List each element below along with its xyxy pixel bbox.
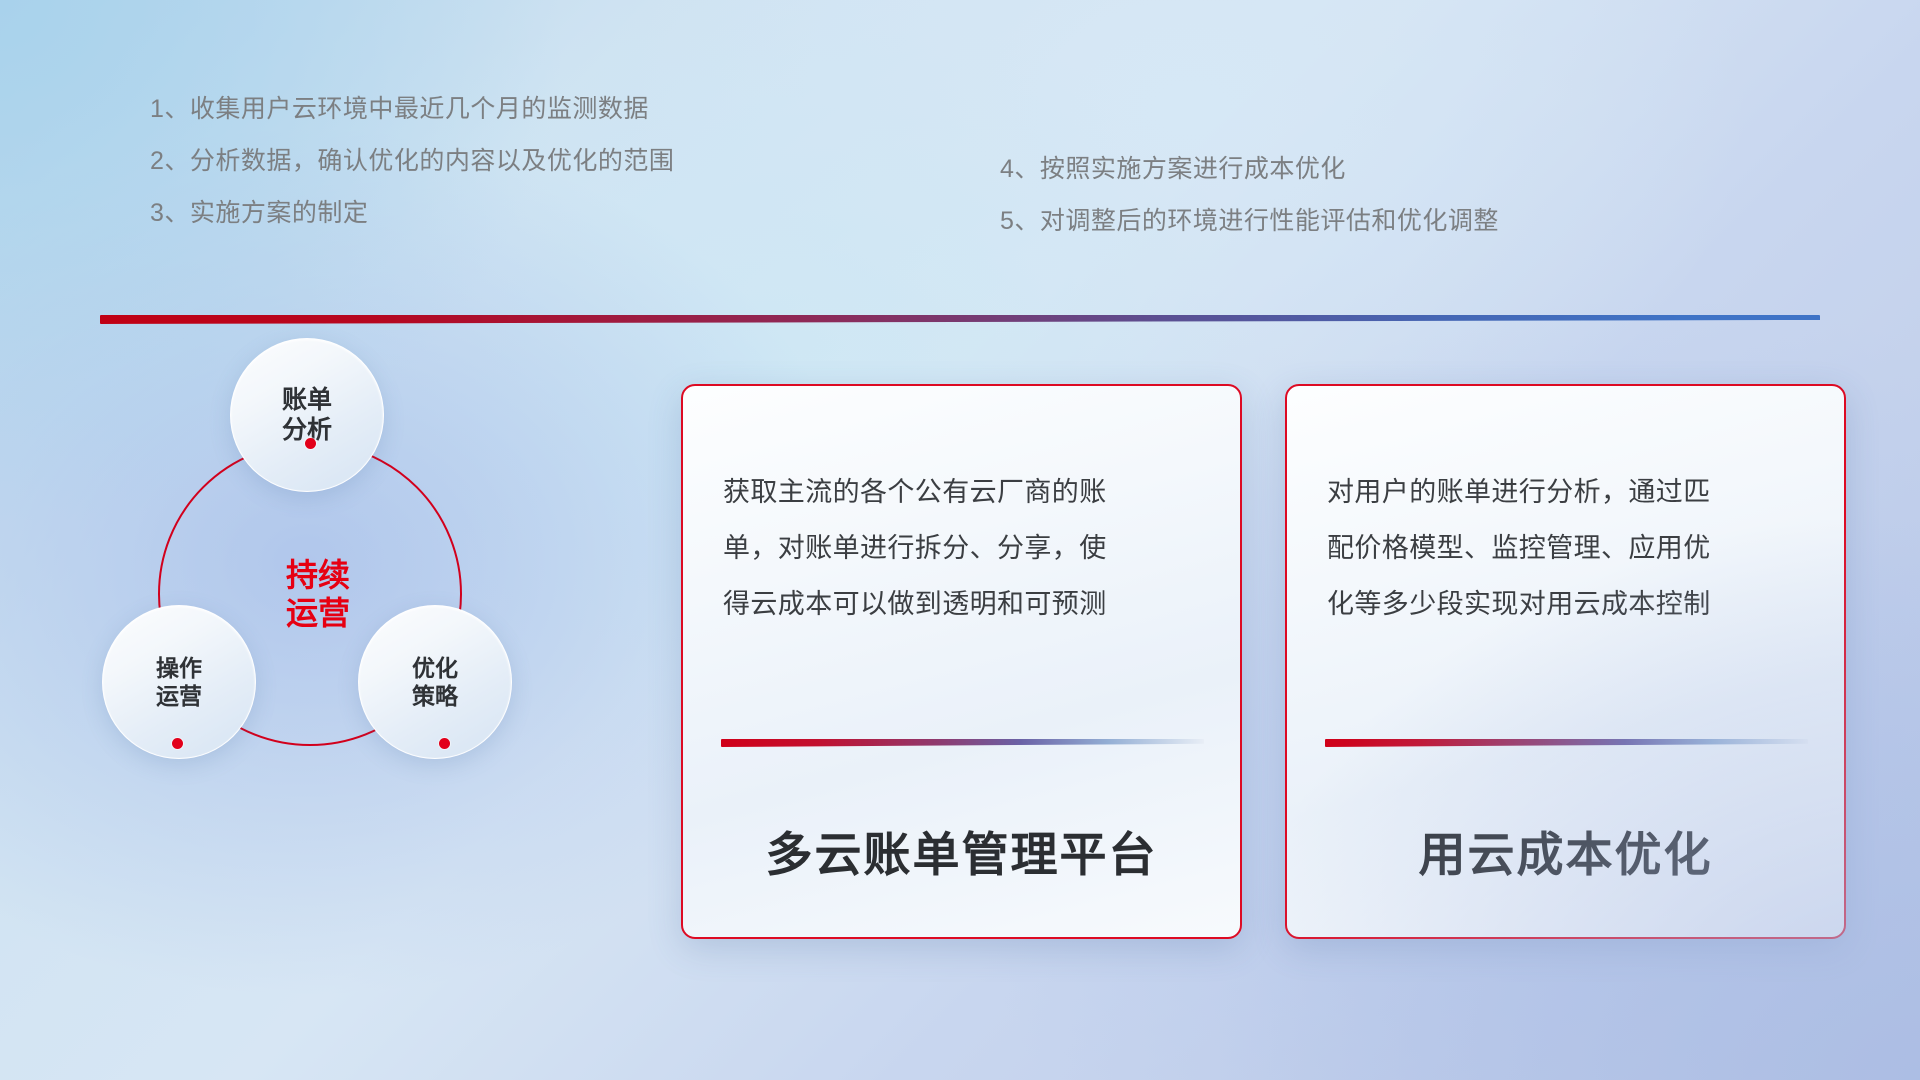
venn-node-operations-line-2: 运营 (156, 682, 202, 710)
venn-node-operations[interactable]: 操作 运营 (102, 605, 256, 759)
section-divider (100, 315, 1820, 324)
card-multi-cloud-billing-platform[interactable]: 获取主流的各个公有云厂商的账 单，对账单进行拆分、分享，使 得云成本可以做到透明… (681, 384, 1242, 939)
card-1-body: 获取主流的各个公有云厂商的账 单，对账单进行拆分、分享，使 得云成本可以做到透明… (723, 464, 1206, 632)
connector-dot-bottom-left (172, 738, 183, 749)
venn-node-optimization-strategy-line-2: 策略 (412, 682, 458, 710)
step-item-3: 3、实施方案的制定 (150, 201, 674, 226)
card-2-body-line-2: 配价格模型、监控管理、应用优 (1327, 520, 1810, 576)
step-item-1: 1、收集用户云环境中最近几个月的监测数据 (150, 97, 674, 122)
steps-left-column: 1、收集用户云环境中最近几个月的监测数据 2、分析数据，确认优化的内容以及优化的… (150, 97, 674, 226)
card-1-body-line-2: 单，对账单进行拆分、分享，使 (723, 520, 1206, 576)
venn-node-bill-analysis-line-1: 账单 (282, 385, 332, 416)
connector-dot-top (305, 438, 316, 449)
card-2-body: 对用户的账单进行分析，通过匹 配价格模型、监控管理、应用优 化等多少段实现对用云… (1327, 464, 1810, 632)
card-1-title: 多云账单管理平台 (683, 816, 1240, 885)
card-2-body-line-3: 化等多少段实现对用云成本控制 (1327, 576, 1810, 632)
venn-node-bill-analysis[interactable]: 账单 分析 (230, 338, 384, 492)
slide-canvas: 1、收集用户云环境中最近几个月的监测数据 2、分析数据，确认优化的内容以及优化的… (0, 0, 1920, 1080)
step-item-2: 2、分析数据，确认优化的内容以及优化的范围 (150, 149, 674, 174)
card-1-body-line-1: 获取主流的各个公有云厂商的账 (723, 464, 1206, 520)
venn-node-operations-line-1: 操作 (156, 654, 202, 682)
venn-node-optimization-strategy[interactable]: 优化 策略 (358, 605, 512, 759)
venn-diagram: 持续 运营 账单 分析 操作 运营 优化 策略 (100, 350, 560, 820)
venn-node-optimization-strategy-line-1: 优化 (412, 654, 458, 682)
card-1-body-line-3: 得云成本可以做到透明和可预测 (723, 576, 1206, 632)
card-2-title: 用云成本优化 (1287, 816, 1844, 885)
card-2-body-line-1: 对用户的账单进行分析，通过匹 (1327, 464, 1810, 520)
connector-dot-bottom-right (439, 738, 450, 749)
card-1-rule (721, 739, 1204, 747)
step-item-4: 4、按照实施方案进行成本优化 (1000, 157, 1499, 182)
step-item-5: 5、对调整后的环境进行性能评估和优化调整 (1000, 209, 1499, 234)
card-cloud-cost-optimization[interactable]: 对用户的账单进行分析，通过匹 配价格模型、监控管理、应用优 化等多少段实现对用云… (1285, 384, 1846, 939)
card-2-rule (1325, 739, 1808, 747)
steps-right-column: 4、按照实施方案进行成本优化 5、对调整后的环境进行性能评估和优化调整 (1000, 157, 1499, 234)
